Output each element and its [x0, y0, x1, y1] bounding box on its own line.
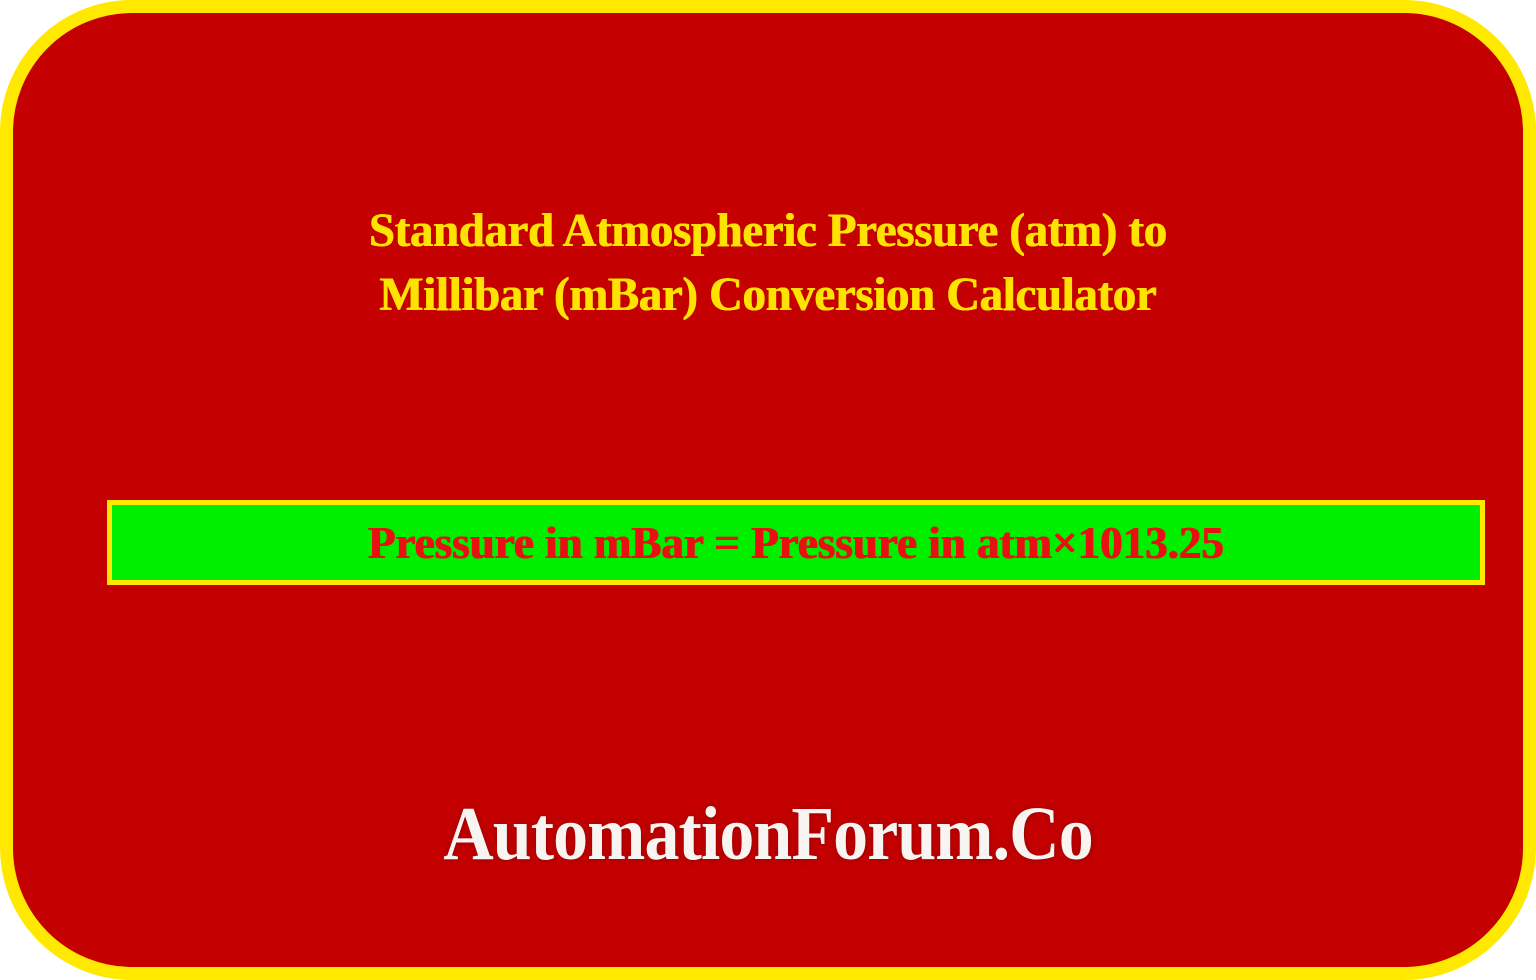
conversion-formula-text: Pressure in mBar = Pressure in atm×1013.… [368, 517, 1224, 569]
page-title-line-1: Standard Atmospheric Pressure (atm) to [36, 199, 1501, 263]
conversion-formula-banner: Pressure in mBar = Pressure in atm×1013.… [107, 500, 1485, 585]
calculator-card: Standard Atmospheric Pressure (atm) to M… [0, 0, 1536, 980]
page-title-line-2: Millibar (mBar) Conversion Calculator [36, 263, 1501, 327]
page-title: Standard Atmospheric Pressure (atm) to M… [36, 199, 1501, 327]
site-watermark: AutomationForum.Co [73, 791, 1462, 878]
image-canvas: Standard Atmospheric Pressure (atm) to M… [0, 0, 1536, 980]
